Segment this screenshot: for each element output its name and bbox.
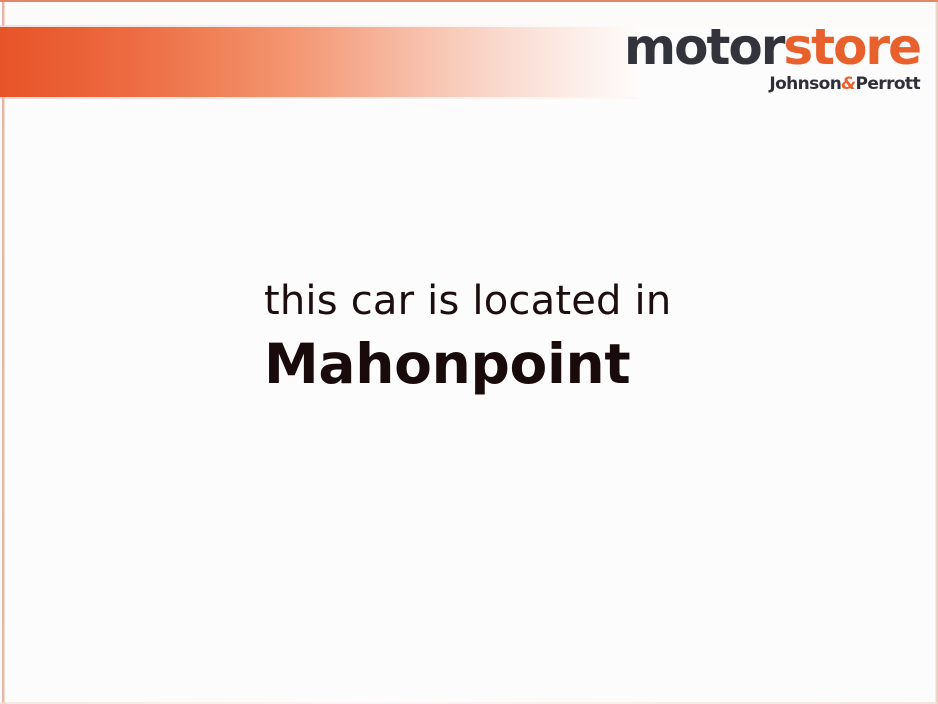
- logo-subtitle-perrott: Perrott: [856, 74, 921, 94]
- frame-left-rule: [2, 2, 5, 704]
- slide-canvas: motorstore Johnson&Perrott this car is l…: [0, 0, 938, 704]
- logo-wordmark-motor: motor: [624, 18, 783, 76]
- logo-wordmark: motorstore: [624, 22, 920, 72]
- logo-subtitle: Johnson&Perrott: [624, 76, 920, 93]
- logo-subtitle-ampersand: &: [841, 74, 855, 94]
- motorstore-logo: motorstore Johnson&Perrott: [624, 22, 920, 93]
- logo-subtitle-johnson: Johnson: [769, 74, 841, 94]
- location-message: this car is located in Mahonpoint: [264, 278, 694, 397]
- location-message-line1: this car is located in: [264, 278, 694, 325]
- orange-gradient-banner: [0, 27, 638, 97]
- logo-wordmark-store: store: [783, 18, 920, 76]
- banner-bottom-edge: [0, 97, 638, 99]
- frame-top-rule: [0, 0, 938, 2]
- location-message-line2: Mahonpoint: [264, 331, 694, 397]
